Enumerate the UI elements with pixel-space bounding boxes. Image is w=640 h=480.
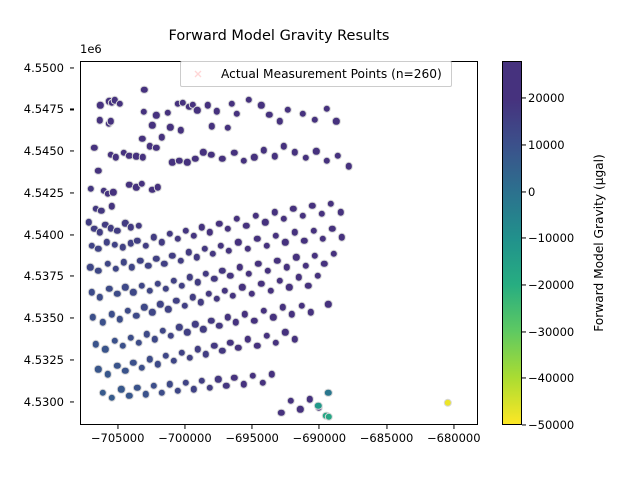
x-tick-mark (386, 425, 387, 429)
scatter-point (262, 241, 270, 249)
scatter-point (208, 122, 216, 130)
scatter-point (280, 142, 288, 150)
colorbar-tick-mark (522, 191, 526, 192)
scatter-point (319, 235, 327, 243)
colorbar-tick-mark (522, 144, 526, 145)
scatter-point (121, 367, 129, 375)
scatter-point (223, 313, 231, 321)
y-axis-offset-text: 1e6 (80, 42, 102, 56)
scatter-point (113, 226, 121, 234)
scatter-point (222, 382, 230, 390)
scatter-point (225, 246, 233, 254)
scatter-point (332, 117, 340, 125)
scatter-point (204, 101, 212, 109)
scatter-point (135, 338, 143, 346)
scatter-point (113, 362, 121, 370)
scatter-point (233, 110, 241, 118)
scatter-point (260, 307, 268, 315)
scatter-point (153, 183, 161, 191)
scatter-point (180, 302, 188, 310)
scatter-point (226, 338, 234, 346)
scatter-point (137, 363, 145, 371)
scatter-point (156, 300, 164, 308)
scatter-point (166, 380, 174, 388)
scatter-point (96, 101, 104, 109)
x-tick-mark (252, 425, 253, 429)
scatter-point (287, 397, 295, 405)
scatter-point (312, 147, 320, 155)
scatter-point (254, 260, 262, 268)
scatter-point (110, 337, 118, 345)
scatter-point (164, 305, 172, 313)
scatter-point (89, 313, 97, 321)
scatter-point (272, 231, 280, 239)
scatter-point (94, 365, 102, 373)
scatter-point (152, 144, 160, 152)
scatter-point (124, 307, 132, 315)
scatter-point (94, 166, 102, 174)
scatter-point (269, 313, 277, 321)
scatter-point (88, 288, 96, 296)
scatter-point (87, 185, 95, 193)
scatter-point (96, 228, 104, 236)
colorbar-tick-mark (522, 331, 526, 332)
colorbar-tick-mark (522, 424, 526, 425)
scatter-point (313, 272, 321, 280)
scatter-point (196, 298, 204, 306)
scatter-point (270, 152, 278, 160)
scatter-point (280, 215, 288, 223)
scatter-point (135, 221, 143, 229)
scatter-point (295, 273, 303, 281)
scatter-point (234, 343, 242, 351)
scatter-point (320, 260, 328, 268)
scatter-point (261, 218, 269, 226)
colorbar-tick-label: −30000 (528, 325, 574, 339)
x-tick-mark (184, 425, 185, 429)
scatter-point (206, 383, 214, 391)
scatter-point (178, 282, 186, 290)
scatter-point (266, 287, 274, 295)
scatter-point (334, 151, 342, 159)
scatter-point (299, 110, 307, 118)
scatter-point (168, 251, 176, 259)
scatter-point (191, 155, 199, 163)
scatter-point (166, 230, 174, 238)
scatter-point (257, 101, 265, 109)
scatter-point (262, 332, 270, 340)
scatter-point (121, 283, 129, 291)
colorbar-tick-label: 10000 (528, 138, 565, 152)
scatter-point (133, 236, 141, 244)
scatter-point (257, 280, 265, 288)
scatter-point (299, 211, 307, 219)
y-tick-label: 4.5450 (24, 144, 64, 158)
colorbar-tick-label: −40000 (528, 371, 574, 385)
scatter-point (276, 117, 284, 125)
scatter-point (162, 285, 170, 293)
scatter-point (132, 312, 140, 320)
scatter-point (174, 235, 182, 243)
scatter-point (288, 310, 296, 318)
scatter-point (245, 95, 253, 103)
scatter-point (116, 100, 124, 108)
scatter-point (108, 202, 116, 210)
scatter-point (144, 262, 152, 270)
scatter-point (336, 208, 344, 216)
scatter-point (317, 210, 325, 218)
scatter-point (229, 292, 237, 300)
x-tick-label: −705000 (91, 431, 145, 445)
scatter-point (141, 390, 149, 398)
scatter-point (105, 285, 113, 293)
scatter-point (112, 265, 120, 273)
scatter-point (149, 233, 157, 241)
y-tick-label: 4.5325 (24, 353, 64, 367)
scatter-point (245, 270, 253, 278)
scatter-point (324, 388, 332, 396)
y-tick-label: 4.5500 (24, 61, 64, 75)
y-tick-label: 4.5375 (24, 269, 64, 283)
scatter-point (292, 253, 300, 261)
scatter-point (223, 225, 231, 233)
scatter-point (210, 275, 218, 283)
scatter-point (199, 325, 207, 333)
scatter-point (133, 383, 141, 391)
scatter-point (157, 388, 165, 396)
scatter-point (151, 335, 159, 343)
scatter-point (218, 267, 226, 275)
scatter-point (253, 235, 261, 243)
scatter-point (281, 328, 289, 336)
scatter-point (253, 342, 261, 350)
scatter-point (129, 288, 137, 296)
scatter-point (194, 278, 202, 286)
scatter-point (167, 332, 175, 340)
scatter-point (127, 333, 135, 341)
x-tick-label: −695000 (225, 431, 279, 445)
legend-marker-x-icon (187, 67, 211, 81)
x-tick-label: −685000 (360, 431, 414, 445)
scatter-point (235, 263, 243, 271)
scatter-point (162, 352, 170, 360)
scatter-point (210, 342, 218, 350)
scatter-point (209, 250, 217, 258)
scatter-point (214, 375, 222, 383)
scatter-point (96, 116, 104, 124)
scatter-point (277, 408, 285, 416)
scatter-point (218, 155, 226, 163)
scatter-point (136, 256, 144, 264)
scatter-point (327, 200, 335, 208)
scatter-point (176, 126, 184, 134)
scatter-point (230, 373, 238, 381)
scatter-point (153, 280, 161, 288)
scatter-point (223, 124, 231, 132)
scatter-point (186, 353, 194, 361)
scatter-point (145, 287, 153, 295)
scatter-point (268, 370, 276, 378)
scatter-point (153, 360, 161, 368)
scatter-point (200, 245, 208, 253)
scatter-point (309, 226, 317, 234)
scatter-point (234, 238, 242, 246)
scatter-point (291, 228, 299, 236)
y-tick-label: 4.5300 (24, 395, 64, 409)
scatter-point (198, 377, 206, 385)
scatter-point (96, 293, 104, 301)
scatter-point (252, 211, 260, 219)
scatter-point (120, 258, 128, 266)
scatter-point (164, 109, 172, 117)
scatter-point (97, 206, 105, 214)
scatter-point (104, 370, 112, 378)
scatter-point (152, 111, 160, 119)
scatter-point (170, 357, 178, 365)
scatter-point (305, 395, 313, 403)
scatter-point (90, 144, 98, 152)
scatter-point (226, 272, 234, 280)
scatter-point (183, 328, 191, 336)
page-title: Forward Model Gravity Results (80, 28, 478, 44)
scatter-point (300, 236, 308, 244)
colorbar: 20000100000−10000−20000−30000−40000−5000… (502, 61, 522, 425)
scatter-point (166, 123, 174, 131)
y-tick-mark (70, 234, 74, 235)
scatter-point (128, 263, 136, 271)
scatter-point (249, 372, 257, 380)
x-tick-mark (453, 425, 454, 429)
y-tick-label: 4.5400 (24, 228, 64, 242)
scatter-point (233, 215, 241, 223)
scatter-point (278, 303, 286, 311)
y-tick-mark (70, 151, 74, 152)
scatter-point (272, 338, 280, 346)
scatter-point (137, 282, 145, 290)
y-tick-mark (70, 276, 74, 277)
x-axis-tick-labels: −705000−700000−695000−690000−685000−6800… (80, 425, 478, 465)
scatter-point (191, 320, 199, 328)
scatter-point (112, 153, 120, 161)
scatter-point (116, 315, 124, 323)
scatter-point (227, 100, 235, 108)
x-tick-label: −690000 (293, 431, 347, 445)
scatter-point (94, 267, 102, 275)
scatter-point (444, 398, 452, 406)
scatter-point (276, 277, 284, 285)
scatter-point (239, 156, 247, 164)
scatter-point (160, 260, 168, 268)
colorbar-tick-label: 0 (528, 185, 535, 199)
scatter-point (182, 226, 190, 234)
scatter-point (117, 385, 125, 393)
scatter-point (186, 273, 194, 281)
scatter-point (113, 290, 121, 298)
scatter-point (190, 385, 198, 393)
scatter-point (273, 256, 281, 264)
scatter-point (175, 323, 183, 331)
scatter-point (137, 180, 145, 188)
scatter-point (323, 105, 331, 113)
y-tick-mark (70, 401, 74, 402)
scatter-point (213, 295, 221, 303)
scatter-point (140, 303, 148, 311)
scatter-point (170, 277, 178, 285)
scatter-point (118, 342, 126, 350)
scatter-point (139, 108, 147, 116)
scatter-point (148, 121, 156, 129)
colorbar-tick-mark (522, 98, 526, 99)
scatter-point (248, 290, 256, 298)
x-tick-mark (319, 425, 320, 429)
scatter-point (301, 154, 309, 162)
scatter-point (207, 150, 215, 158)
scatter-point (106, 117, 114, 125)
colorbar-tick-mark (522, 378, 526, 379)
scatter-point (285, 283, 293, 291)
scatter-point (270, 208, 278, 216)
scatter-point (174, 387, 182, 395)
scatter-point (108, 310, 116, 318)
scatter-point (125, 392, 133, 400)
plot-axes (80, 61, 478, 425)
scatter-point (149, 382, 157, 390)
scatter-point (242, 221, 250, 229)
y-tick-mark (70, 318, 74, 319)
scatter-point (182, 378, 190, 386)
scatter-point (157, 133, 165, 141)
scatter-point (296, 405, 304, 413)
scatter-point (184, 248, 192, 256)
scatter-point (311, 115, 319, 123)
colorbar-tick-mark (522, 284, 526, 285)
scatter-point (98, 318, 106, 326)
y-tick-mark (70, 192, 74, 193)
scatter-point (178, 348, 186, 356)
y-axis-tick-labels: 4.53004.53254.53504.53754.54004.54254.54… (0, 61, 74, 425)
scatter-point (324, 300, 332, 308)
scatter-point (307, 308, 315, 316)
y-tick-mark (70, 359, 74, 360)
scatter-point (330, 250, 338, 258)
scatter-point (139, 153, 147, 161)
scatter-point (194, 345, 202, 353)
scatter-point (308, 201, 316, 209)
scatter-point (323, 156, 331, 164)
colorbar-gradient (502, 61, 522, 425)
scatter-point (291, 335, 299, 343)
scatter-point (108, 393, 116, 401)
y-tick-mark (70, 109, 74, 110)
x-tick-label: −700000 (158, 431, 212, 445)
scatter-point (260, 146, 268, 154)
scatter-point (202, 350, 210, 358)
scatter-point (325, 413, 333, 421)
x-tick-label: −680000 (427, 431, 481, 445)
scatter-point (215, 322, 223, 330)
scatter-point (265, 110, 273, 118)
colorbar-tick-mark (522, 238, 526, 239)
scatter-point (145, 355, 153, 363)
scatter-point (283, 263, 291, 271)
scatter-point (190, 231, 198, 239)
scatter-point (143, 330, 151, 338)
scatter-point (250, 153, 258, 161)
scatter-point (101, 345, 109, 353)
scatter-point (140, 85, 148, 93)
scatter-point (172, 297, 180, 305)
scatter-points-layer (81, 62, 477, 424)
scatter-point (188, 293, 196, 301)
scatter-point (244, 335, 252, 343)
scatter-point (104, 260, 112, 268)
y-tick-mark (70, 67, 74, 68)
scatter-point (338, 233, 346, 241)
scatter-point (148, 308, 156, 316)
scatter-point (221, 287, 229, 295)
colorbar-tick-label: −10000 (528, 231, 574, 245)
scatter-point (304, 282, 312, 290)
scatter-point (215, 220, 223, 228)
scatter-point (213, 107, 221, 115)
scatter-point (192, 253, 200, 261)
scatter-point (206, 228, 214, 236)
scatter-point (230, 149, 238, 157)
x-tick-mark (117, 425, 118, 429)
y-tick-label: 4.5425 (24, 186, 64, 200)
scatter-point (344, 162, 352, 170)
scatter-point (264, 267, 272, 275)
colorbar-tick-label: −50000 (528, 418, 574, 432)
scatter-point (118, 243, 126, 251)
scatter-point (238, 283, 246, 291)
y-tick-label: 4.5475 (24, 102, 64, 116)
colorbar-tick-label: −20000 (528, 278, 574, 292)
scatter-point (241, 310, 249, 318)
scatter-point (250, 317, 258, 325)
scatter-point (258, 378, 266, 386)
scatter-point (129, 358, 137, 366)
scatter-point (157, 238, 165, 246)
scatter-point (244, 245, 252, 253)
chart-legend: Actual Measurement Points (n=260) (180, 61, 452, 87)
scatter-point (281, 238, 289, 246)
y-tick-label: 4.5350 (24, 311, 64, 325)
scatter-point (291, 148, 299, 156)
scatter-point (289, 205, 297, 213)
scatter-point (311, 251, 319, 259)
scatter-point (207, 317, 215, 325)
legend-entry-label: Actual Measurement Points (n=260) (221, 67, 442, 81)
scatter-point (202, 270, 210, 278)
scatter-point (159, 327, 167, 335)
scatter-point (193, 106, 201, 114)
matplotlib-figure: Forward Model Gravity Results 1e6 4.5300… (0, 0, 640, 480)
scatter-point (297, 302, 305, 310)
scatter-point (98, 388, 106, 396)
scatter-point (284, 105, 292, 113)
scatter-point (138, 135, 146, 143)
scatter-point (92, 340, 100, 348)
scatter-point (152, 255, 160, 263)
scatter-point (141, 241, 149, 249)
scatter-point (217, 241, 225, 249)
scatter-point (218, 347, 226, 355)
scatter-point (109, 188, 117, 196)
scatter-point (198, 223, 206, 231)
colorbar-axis-label: Forward Model Gravity (μgal) (592, 61, 612, 425)
colorbar-tick-label: 20000 (528, 91, 565, 105)
